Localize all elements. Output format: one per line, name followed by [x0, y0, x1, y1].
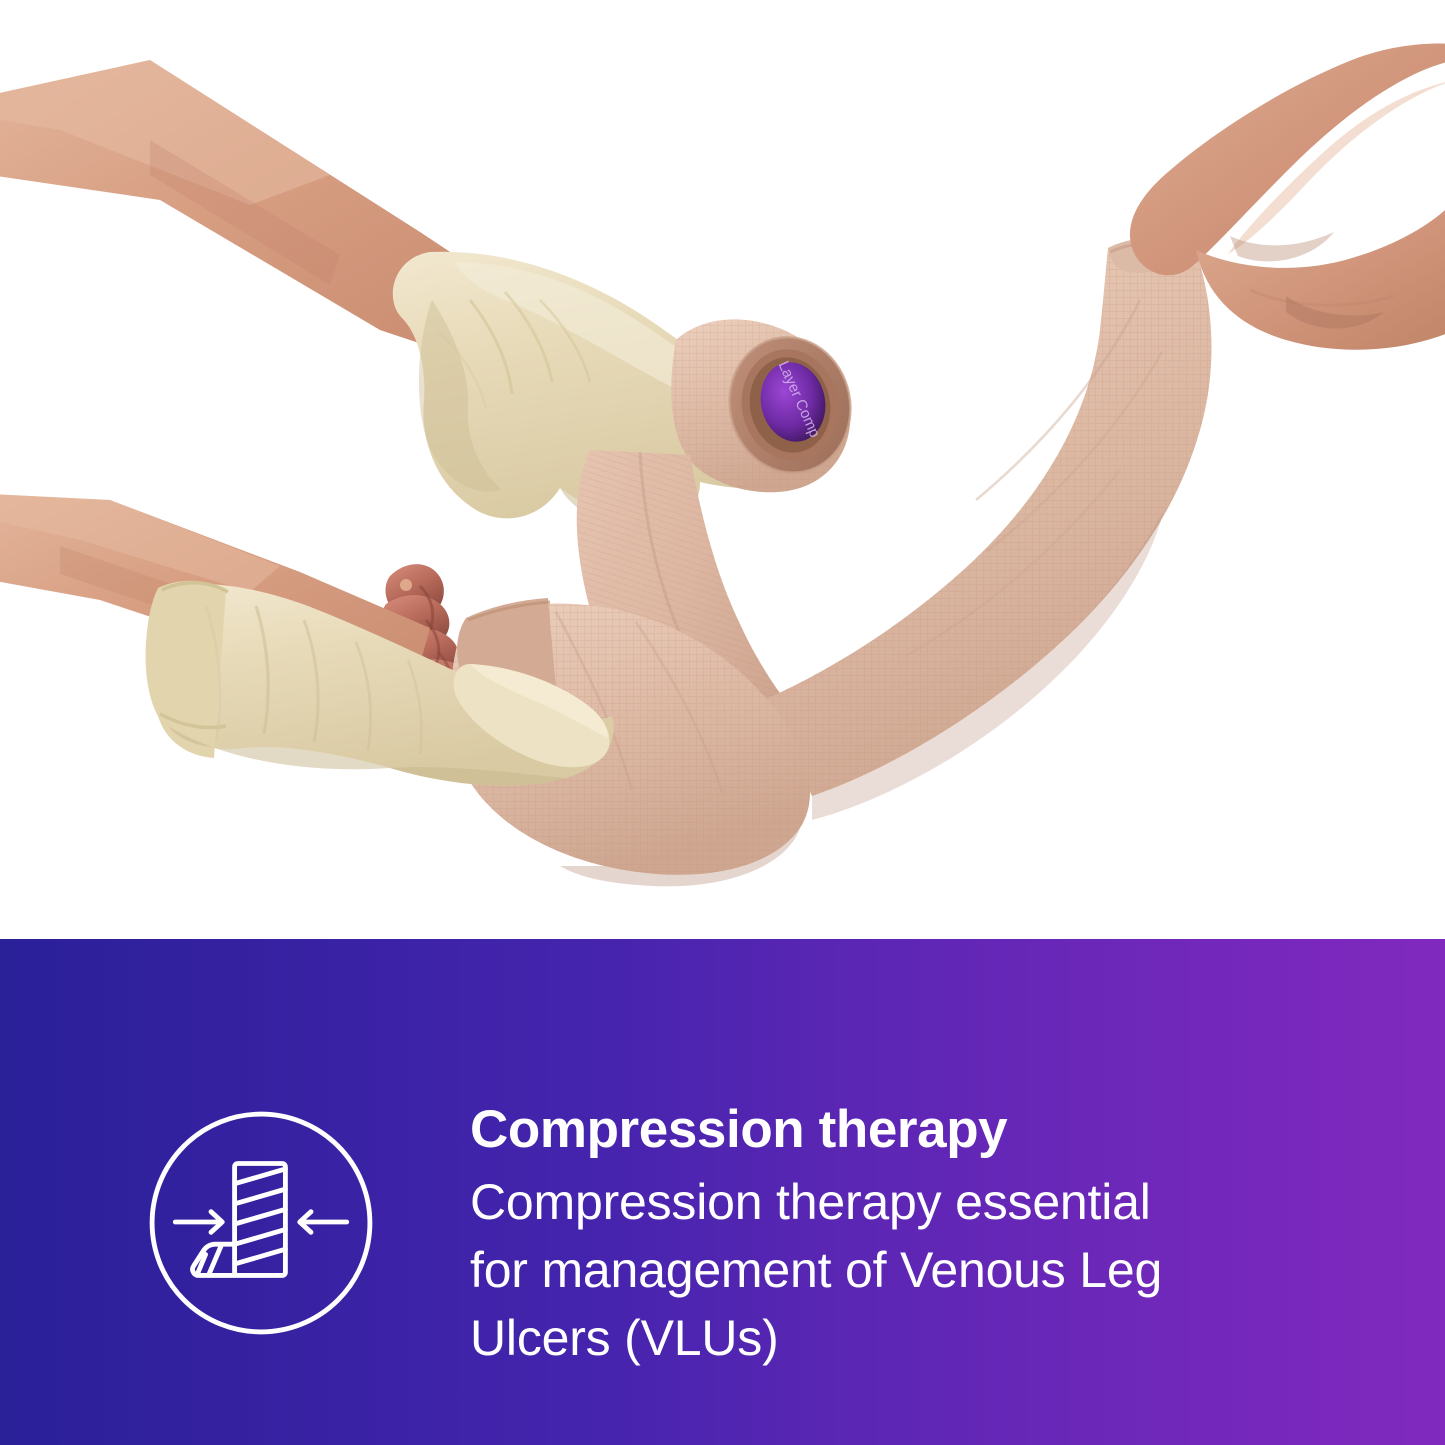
compression-bandage-leg-icon-svg [140, 1102, 382, 1344]
banner-body-line-2: for management of Venous Leg [470, 1236, 1370, 1304]
icon-stripe-2 [235, 1189, 286, 1204]
banner-title: Compression therapy [470, 1098, 1370, 1163]
icon-stripe-4 [235, 1229, 286, 1244]
compression-bandage-leg-icon [140, 1102, 382, 1344]
icon-stripe-3 [235, 1209, 286, 1224]
compression-therapy-banner: Compression therapy Compression therapy … [0, 939, 1445, 1445]
banner-content: Compression therapy Compression therapy … [0, 1012, 1445, 1373]
banner-body: Compression therapy essential for manage… [470, 1168, 1370, 1372]
photo-illustration: Layer Comp [0, 0, 1445, 939]
banner-text-block: Compression therapy Compression therapy … [470, 1018, 1370, 1373]
icon-stripe-1 [235, 1169, 286, 1184]
banner-body-line-3: Ulcers (VLUs) [470, 1304, 1370, 1372]
compression-therapy-photo: Layer Comp [0, 0, 1445, 939]
icon-foot-stripe-1 [209, 1245, 222, 1275]
icon-stripe-5 [235, 1249, 286, 1264]
page-root: Layer Comp [0, 0, 1445, 1445]
banner-body-line-1: Compression therapy essential [470, 1168, 1370, 1236]
